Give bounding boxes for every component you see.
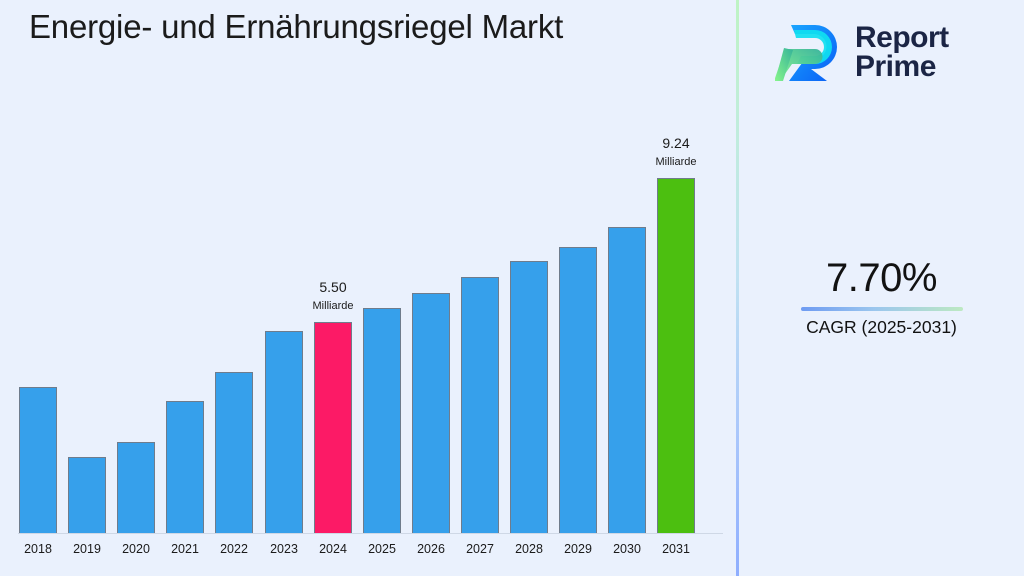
bar-2026[interactable]: [412, 293, 450, 534]
cagr-block: 7.70% CAGR (2025-2031): [739, 255, 1024, 338]
bar-2028[interactable]: [510, 261, 548, 534]
bar-2024[interactable]: [314, 322, 352, 534]
bar-2027[interactable]: [461, 277, 499, 534]
bar-value-number-2024: 5.50: [319, 279, 346, 295]
brand-logo-text: Report Prime: [855, 23, 949, 82]
x-axis-line: [18, 533, 723, 534]
brand-logo-line-1: Report: [855, 23, 949, 52]
bar-2020[interactable]: [117, 442, 155, 534]
side-panel: Report Prime 7.70% CAGR (2025-2031): [739, 0, 1024, 576]
brand-logo-line-2: Prime: [855, 52, 949, 81]
bar-value-unit-2031: Milliarde: [626, 154, 726, 170]
bar-2029[interactable]: [559, 247, 597, 534]
cagr-label: CAGR (2025-2031): [739, 316, 1024, 338]
bar-2031[interactable]: [657, 178, 695, 534]
bar-2021[interactable]: [166, 401, 204, 534]
cagr-value: 7.70%: [739, 255, 1024, 301]
bar-value-label-2031: 9.24Milliarde: [626, 135, 726, 170]
cagr-divider-rule: [801, 307, 963, 311]
bar-value-number-2031: 9.24: [662, 135, 689, 151]
brand-logo[interactable]: Report Prime: [775, 12, 1005, 92]
screenshot-root: Energie- und Ernährungsriegel Markt 5.50…: [0, 0, 1024, 576]
x-axis-label-2031: 2031: [646, 542, 706, 556]
bar-2019[interactable]: [68, 457, 106, 534]
bar-2030[interactable]: [608, 227, 646, 534]
bar-2018[interactable]: [19, 387, 57, 534]
bar-2025[interactable]: [363, 308, 401, 534]
report-prime-logo-mark-icon: [775, 19, 843, 85]
bar-2022[interactable]: [215, 372, 253, 534]
chart-panel: Energie- und Ernährungsriegel Markt 5.50…: [0, 0, 737, 576]
bar-2023[interactable]: [265, 331, 303, 534]
bar-chart-plot: 5.50Milliarde9.24Milliarde 2018201920202…: [0, 0, 723, 535]
